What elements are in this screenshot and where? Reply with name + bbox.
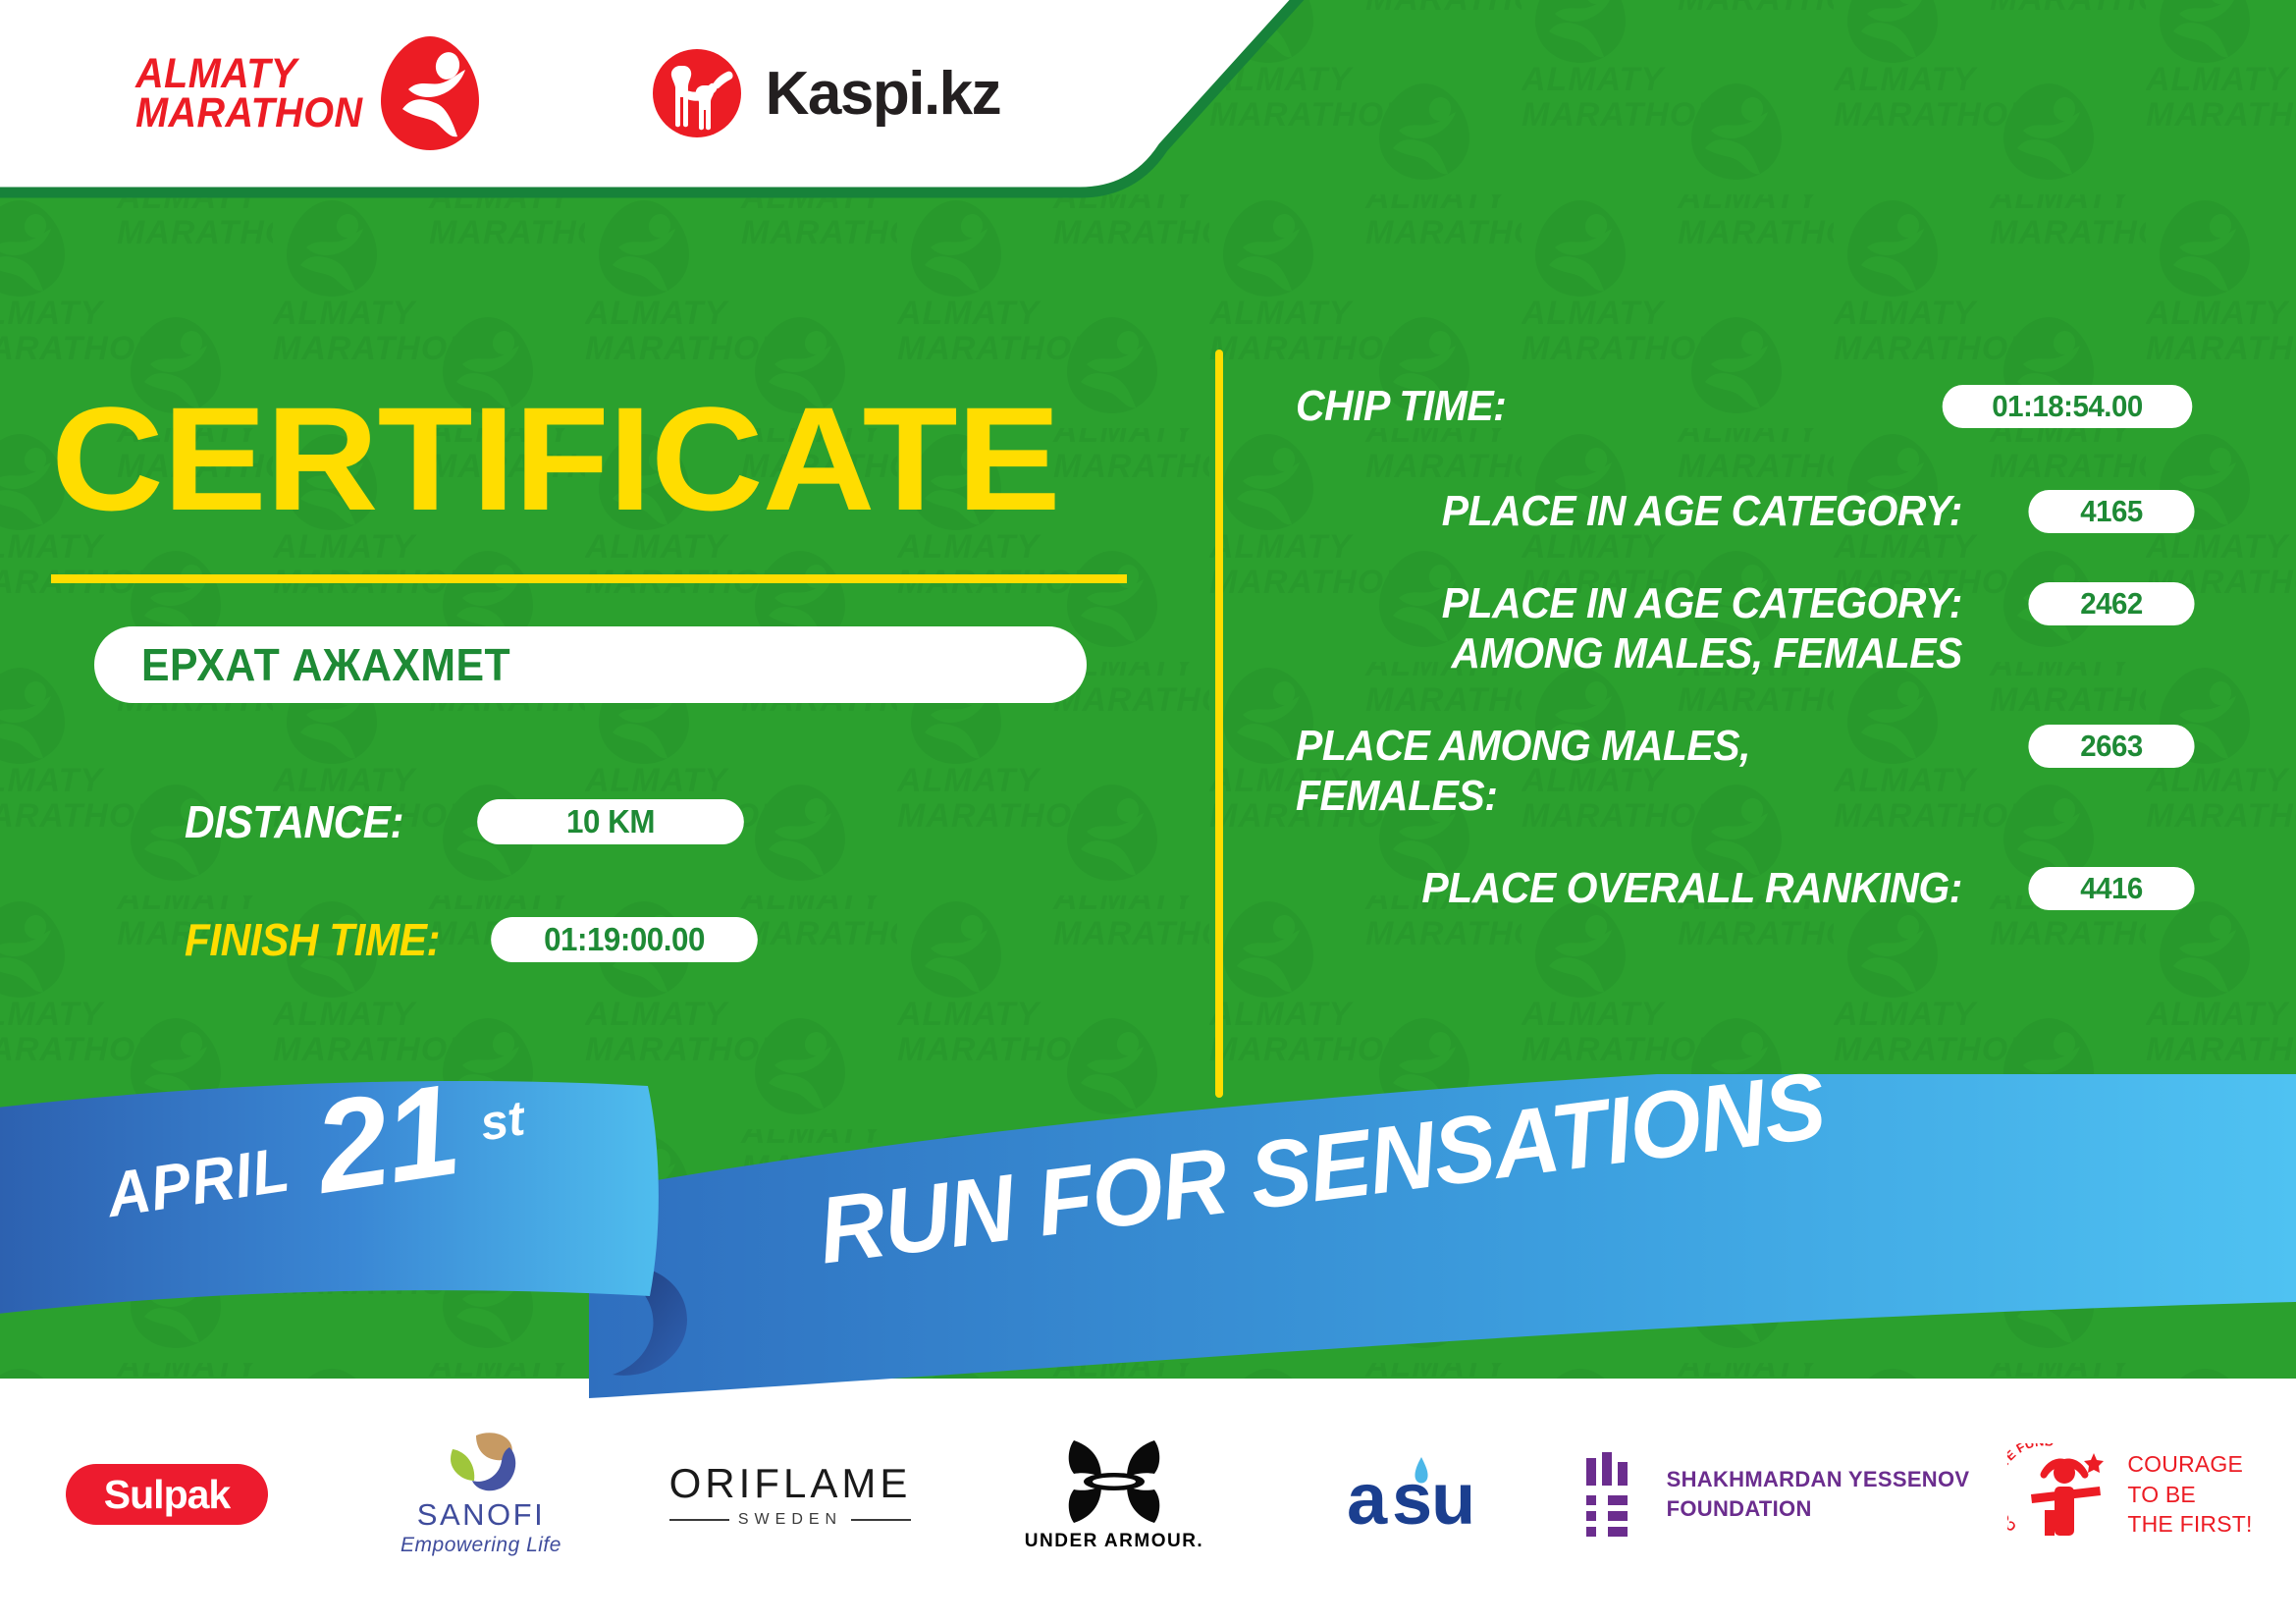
finish-time-value: 01:19:00.00 <box>491 917 758 962</box>
sanofi-tagline: Empowering Life <box>400 1534 561 1557</box>
almaty-marathon-line2: MARATHON <box>135 93 362 133</box>
finish-time-label: FINISH TIME: <box>185 913 440 966</box>
almaty-marathon-runner-icon <box>379 34 481 152</box>
stat-label: PLACE AMONG MALES, FEMALES: <box>1296 721 1973 822</box>
svg-text:s: s <box>1392 1458 1432 1540</box>
distance-value: 10 KM <box>477 799 744 844</box>
header-logos: ALMATY MARATHON Kaspi.kz <box>0 0 1080 187</box>
asu-mark-icon: a s u <box>1345 1447 1502 1542</box>
sponsor-yessenov-foundation: SHAKHMARDAN YESSENOV FOUNDATION <box>1571 1416 1983 1573</box>
stat-value: 2462 <box>2028 582 2194 625</box>
sponsor-sanofi: SANOFI Empowering Life <box>334 1416 628 1573</box>
courage-line1: COURAGE <box>2127 1451 2243 1477</box>
title-underline-rule <box>51 574 1127 583</box>
vertical-divider <box>1215 350 1223 1098</box>
yessenov-bars-icon <box>1584 1452 1647 1537</box>
sanofi-mark-icon <box>433 1432 529 1496</box>
svg-text:a: a <box>1347 1458 1388 1540</box>
courage-line2: TO BE <box>2127 1482 2196 1507</box>
corporate-fund-logo: CORPORATE FUND COURAGE TO BE THE FIRST! <box>2007 1443 2252 1545</box>
oriflame-rule-left <box>669 1519 729 1521</box>
sponsor-under-armour: UNDER ARMOUR. <box>952 1416 1276 1573</box>
distance-label: DISTANCE: <box>185 795 403 848</box>
under-armour-icon <box>1056 1436 1172 1527</box>
almaty-marathon-line1: ALMATY <box>135 54 362 93</box>
stat-value: 2663 <box>2028 725 2194 768</box>
event-day: 21 <box>309 1079 462 1200</box>
stats-panel: CHIP TIME: 01:18:54.00 PLACE IN AGE CATE… <box>1296 381 2199 913</box>
stat-value: 01:18:54.00 <box>1943 385 2193 428</box>
almaty-marathon-wordmark: ALMATY MARATHON <box>135 54 362 133</box>
almaty-marathon-logo: ALMATY MARATHON <box>126 34 481 152</box>
page-title: CERTIFICATE <box>51 385 1060 532</box>
oriflame-sub: SWEDEN <box>669 1511 912 1529</box>
yessenov-line1: SHAKHMARDAN YESSENOV <box>1667 1467 1970 1491</box>
stat-row-place-age-category-among: PLACE IN AGE CATEGORY: AMONG MALES, FEMA… <box>1296 578 2199 679</box>
stat-value: 4416 <box>2028 867 2194 910</box>
kaspi-wordmark: Kaspi.kz <box>766 59 1001 129</box>
stat-row-chip-time: CHIP TIME: 01:18:54.00 <box>1296 381 2199 431</box>
stat-value: 4165 <box>2028 490 2194 533</box>
yessenov-wordmark: SHAKHMARDAN YESSENOV FOUNDATION <box>1667 1465 1970 1523</box>
kaspi-people-icon <box>650 46 744 140</box>
yessenov-logo: SHAKHMARDAN YESSENOV FOUNDATION <box>1584 1452 1970 1537</box>
oriflame-rule-right <box>851 1519 911 1521</box>
oriflame-country: SWEDEN <box>738 1511 842 1529</box>
stat-row-place-among-males-females: PLACE AMONG MALES, FEMALES: 2663 <box>1296 721 2199 822</box>
stat-row-place-age-category: PLACE IN AGE CATEGORY: 4165 <box>1296 486 2199 536</box>
sponsor-bar: Sulpak SANOFI Empowering Life ORIFLAME S… <box>0 1416 2296 1573</box>
oriflame-wordmark: ORIFLAME <box>669 1460 912 1507</box>
stat-label: PLACE IN AGE CATEGORY: <box>1296 486 1973 536</box>
under-armour-logo: UNDER ARMOUR. <box>1025 1436 1203 1552</box>
svg-text:u: u <box>1431 1458 1475 1540</box>
asu-logo: a s u <box>1345 1447 1502 1542</box>
corporate-fund-runner-icon: CORPORATE FUND <box>2007 1443 2117 1545</box>
stat-row-place-overall-ranking: PLACE OVERALL RANKING: 4416 <box>1296 863 2199 913</box>
kaspi-logo: Kaspi.kz <box>650 46 1001 140</box>
sponsor-oriflame: ORIFLAME SWEDEN <box>628 1416 952 1573</box>
yessenov-line2: FOUNDATION <box>1667 1496 1812 1521</box>
oriflame-logo: ORIFLAME SWEDEN <box>669 1460 912 1529</box>
sulpak-logo: Sulpak <box>66 1464 268 1525</box>
stat-label: CHIP TIME: <box>1296 381 1891 431</box>
stat-label: PLACE IN AGE CATEGORY: AMONG MALES, FEMA… <box>1296 578 1973 679</box>
stat-label: PLACE OVERALL RANKING: <box>1296 863 1973 913</box>
certificate-page: ALMATY MARATHON Kaspi.kz CERTIFICATE <box>0 0 2296 1624</box>
participant-name-value: ЕРХАТ АЖАХМЕТ <box>141 638 510 691</box>
sanofi-logo: SANOFI Empowering Life <box>400 1432 561 1557</box>
corporate-fund-wordmark: COURAGE TO BE THE FIRST! <box>2127 1449 2252 1539</box>
distance-row: DISTANCE: 10 KM <box>185 795 751 848</box>
sanofi-wordmark: SANOFI <box>417 1497 545 1533</box>
participant-name-field: ЕРХАТ АЖАХМЕТ <box>94 626 1087 703</box>
sponsor-sulpak: Sulpak <box>0 1416 334 1573</box>
sponsor-corporate-fund: CORPORATE FUND COURAGE TO BE THE FIRST! <box>1983 1416 2277 1573</box>
courage-line3: THE FIRST! <box>2127 1511 2252 1537</box>
sponsor-asu: a s u <box>1276 1416 1571 1573</box>
finish-time-row: FINISH TIME: 01:19:00.00 <box>185 913 765 966</box>
under-armour-wordmark: UNDER ARMOUR. <box>1025 1531 1203 1552</box>
